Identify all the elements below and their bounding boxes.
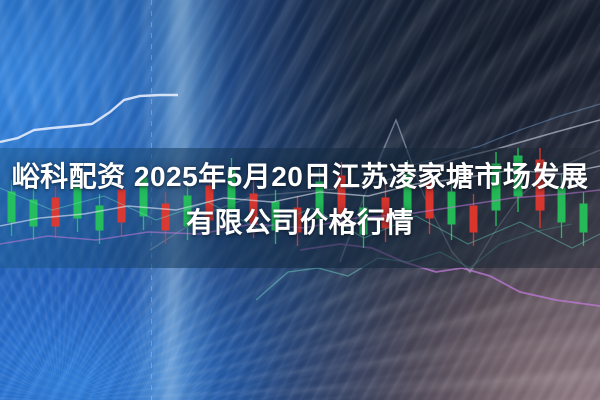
promo-banner: 峪科配资 2025年5月20日江苏凌家塘市场发展 有限公司价格行情: [0, 0, 600, 400]
headline-line-1: 峪科配资 2025年5月20日江苏凌家塘市场发展: [12, 157, 589, 197]
headline-line-2: 有限公司价格行情: [186, 203, 414, 243]
banner-headline: 峪科配资 2025年5月20日江苏凌家塘市场发展 有限公司价格行情: [0, 0, 600, 400]
